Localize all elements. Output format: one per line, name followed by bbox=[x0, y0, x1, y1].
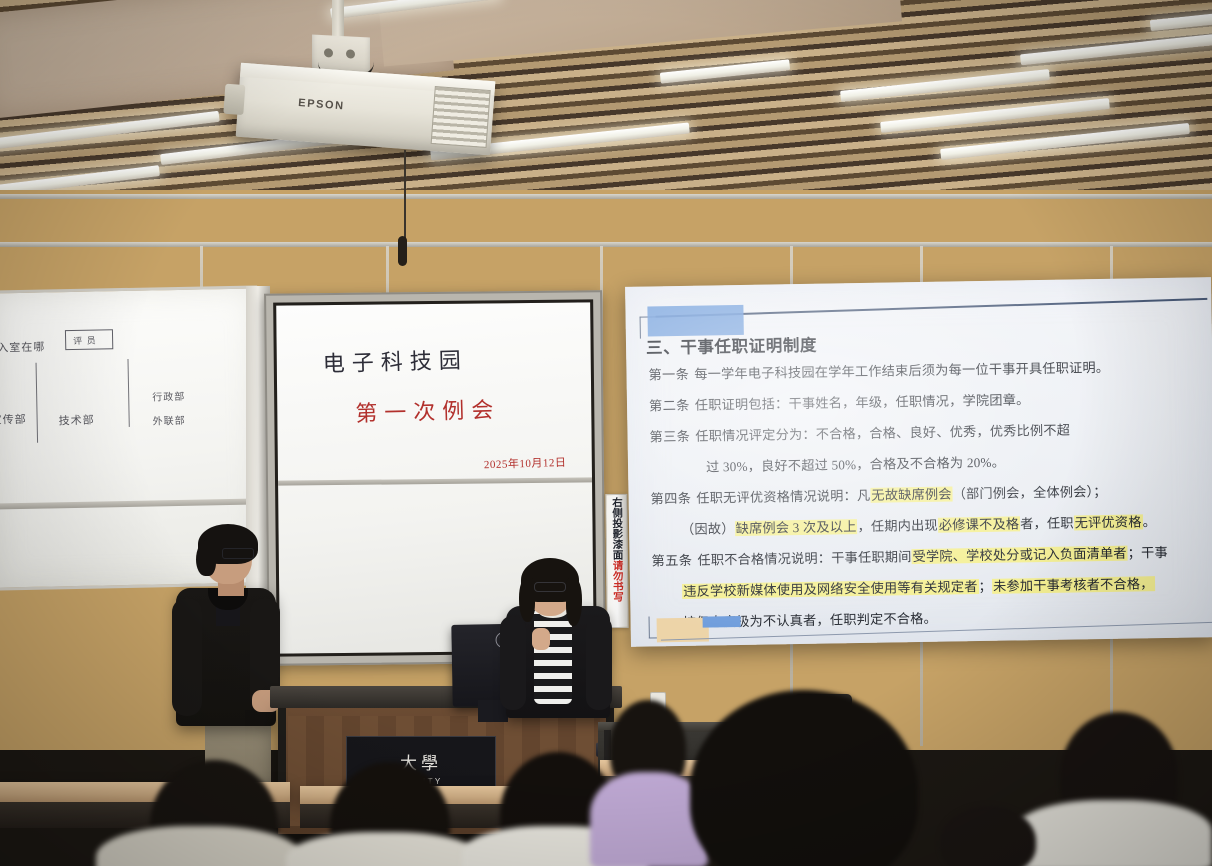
ceiling-light-tube bbox=[880, 98, 1110, 133]
slide-body-line: 第二条任职证明包括：干事姓名，年级，任职情况，学院团章。 bbox=[649, 389, 1030, 414]
slide-body-line: （因故）缺席例会 3 次及以上，任期内出现必修课不及格者，任职无评优资格。 bbox=[681, 511, 1156, 538]
slide-text: 任职不合格情况说明：干事任职期间 bbox=[697, 549, 911, 568]
slide-highlighted-text: 未参加干事考核者不合格， bbox=[992, 576, 1155, 594]
presenter-male-glasses bbox=[222, 548, 254, 559]
presenter-male-left-arm bbox=[172, 598, 202, 716]
slide-title: 三、干事任职证明制度 bbox=[646, 332, 817, 359]
slide-highlighted-text: 无评优资格 bbox=[1074, 514, 1143, 530]
ceiling-light-tube bbox=[840, 69, 1050, 102]
classroom-scene: EPSON 入室在哪 评 员 宣传部 技术部 行政部 外联部 电子科技园 第一次… bbox=[0, 0, 1212, 866]
whiteboard-note: 宣传部 bbox=[0, 411, 27, 428]
projection-surface-warning-sign: 右侧投影漆面 请勿书写 bbox=[605, 494, 628, 628]
slide-highlighted-text: 缺席例会 3 次及以上 bbox=[735, 519, 858, 536]
ceiling-light-tube bbox=[660, 59, 790, 84]
presenter-female-striped-shirt bbox=[534, 608, 572, 704]
slide-text: ；干事 bbox=[1128, 545, 1168, 561]
slide-text: （因故） bbox=[681, 521, 735, 537]
whiteboard-note: 技术部 bbox=[58, 411, 94, 428]
whiteboard-note: 评 员 bbox=[73, 333, 97, 347]
slide-body-line: 过 30%，良好不超过 50%，合格及不合格为 20%。 bbox=[706, 452, 1005, 476]
slide-text: 过 30%，良好不超过 50%，合格及不合格为 20%。 bbox=[706, 455, 1005, 475]
projector-mount-pole bbox=[332, 0, 344, 40]
slide-body-line: 第四条任职无评优资格情况说明：凡无故缺席例会（部门例会，全体例会）； bbox=[650, 481, 1106, 508]
whiteboard-subtitle-handwriting: 第一次例会 bbox=[355, 392, 501, 428]
slide-blue-accent-block bbox=[647, 305, 743, 337]
projector-vent-grille bbox=[431, 86, 491, 148]
slide-highlighted-text: 违反学校新媒体使用及网络安全使用等有关规定者 bbox=[682, 579, 979, 599]
presenter-female-left-arm bbox=[500, 616, 526, 710]
slide-highlighted-text: 必修课不及格 bbox=[938, 516, 1021, 532]
whiteboard-date-handwriting: 2025年10月12日 bbox=[483, 454, 566, 472]
projection-screen: 三、干事任职证明制度 第一条每一学年电子科技园在学年工作结束后须为每一位干事开具… bbox=[625, 277, 1212, 647]
slide-line-label: 第四条 bbox=[650, 491, 691, 507]
warning-sign-line-red: 请勿书写 bbox=[611, 560, 623, 602]
presenter-female-hair-right bbox=[566, 578, 582, 626]
slide-text: ，任期内出现 bbox=[857, 518, 938, 534]
whiteboard-title-handwriting: 电子科技园 bbox=[322, 342, 468, 378]
whiteboard-note: 行政部 bbox=[152, 388, 185, 404]
slide-line-label: 第一条 bbox=[648, 367, 689, 383]
slide-body-line: 第五条任职不合格情况说明：干事任职期间受学院、学校处分或记入负面清单者；干事 bbox=[651, 542, 1168, 570]
slide-line-label: 第二条 bbox=[649, 398, 690, 414]
slide-text: 任职证明包括：干事姓名，年级，任职情况，学院团章。 bbox=[695, 392, 1030, 413]
slide-text: 任职无评优资格情况说明：凡 bbox=[696, 488, 870, 506]
projector-lens bbox=[223, 84, 245, 115]
ceiling-light-tube bbox=[940, 123, 1190, 160]
whiteboard-note: 入室在哪 bbox=[0, 338, 45, 355]
slide-highlighted-text: 受学院、学校处分或记入负面清单者 bbox=[911, 546, 1127, 565]
presenter-female-hair-left bbox=[519, 578, 535, 622]
blind-pull-cord[interactable] bbox=[404, 150, 406, 238]
slide-highlighted-text: 无故缺席例会 bbox=[870, 486, 953, 502]
audience-shoulders bbox=[286, 832, 482, 866]
slide-text: （部门例会，全体例会）； bbox=[953, 484, 1107, 502]
whiteboard-divider bbox=[0, 498, 258, 509]
presenter-male-hair-side bbox=[196, 540, 216, 576]
audience-head bbox=[940, 806, 1036, 866]
audience-shoulders bbox=[1014, 800, 1212, 866]
wall-horizontal-band bbox=[0, 194, 1212, 199]
projector-brand-label: EPSON bbox=[298, 97, 345, 112]
presenter-female-right-arm bbox=[586, 616, 612, 710]
ceiling-light-tube bbox=[0, 111, 220, 152]
whiteboard-note: 外联部 bbox=[152, 412, 185, 428]
slide-blue-accent-block-bottom bbox=[703, 616, 741, 628]
slide-text: ； bbox=[978, 579, 992, 594]
ceiling-light-tube bbox=[1020, 34, 1212, 66]
slide-body-line: 第一条每一学年电子科技园在学年工作结束后须为每一位干事开具任职证明。 bbox=[648, 357, 1109, 384]
ceiling-light-tube bbox=[1150, 8, 1212, 31]
presenter-female-hand bbox=[532, 628, 550, 650]
slide-text: 者，任职 bbox=[1020, 515, 1074, 531]
slide-text: 每一学年电子科技园在学年工作结束后须为每一位干事开具任职证明。 bbox=[694, 360, 1109, 382]
ceiling-plain-panel-2 bbox=[378, 0, 902, 67]
whiteboard-divider bbox=[278, 477, 592, 485]
slide-line-label: 第三条 bbox=[649, 429, 690, 445]
slide-line-label: 第五条 bbox=[651, 553, 692, 569]
whiteboard-connector-line bbox=[36, 363, 39, 443]
slide-body-line: 第三条任职情况评定分为：不合格，合格、良好、优秀，优秀比例不超 bbox=[649, 420, 1070, 446]
warning-sign-line-dark: 右侧投影漆面 bbox=[611, 497, 623, 560]
slide-text: 任职情况评定分为：不合格，合格、良好、优秀，优秀比例不超 bbox=[695, 423, 1070, 444]
whiteboard-connector-line bbox=[127, 359, 130, 427]
slide-text: 。 bbox=[1143, 514, 1157, 529]
presenter-female-glasses bbox=[534, 582, 566, 592]
blind-pull-grip[interactable] bbox=[398, 236, 407, 266]
slide-body-line: 违反学校新媒体使用及网络安全使用等有关规定者；未参加干事考核者不合格， bbox=[682, 573, 1155, 600]
wall-horizontal-band bbox=[0, 242, 1212, 247]
